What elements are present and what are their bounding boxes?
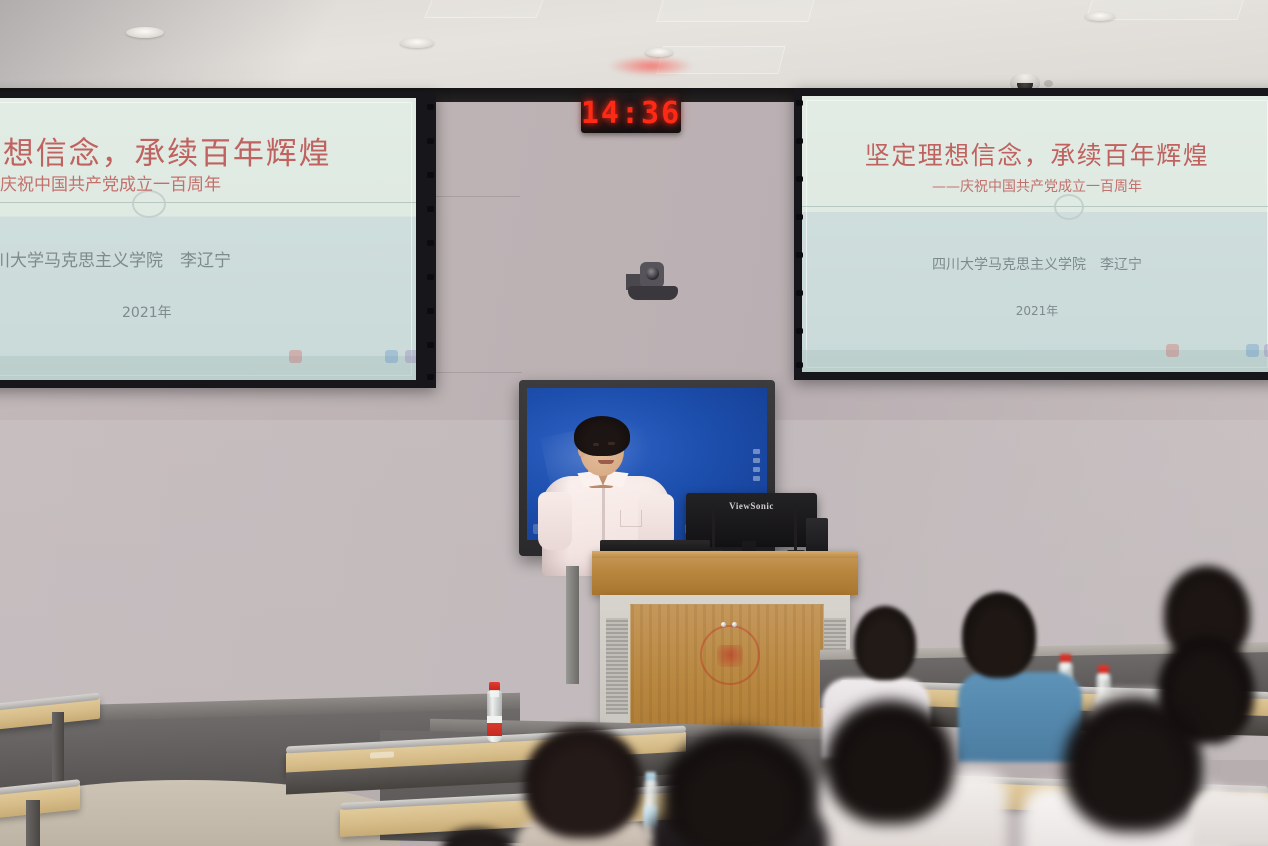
audience-head — [826, 700, 954, 824]
bottle-neck — [1099, 673, 1108, 680]
wall-digital-clock: 14:36 — [581, 93, 681, 133]
wall-seam — [430, 372, 522, 373]
ceiling-downlight — [400, 38, 434, 48]
desk-leg — [52, 712, 64, 784]
bottle-label — [487, 716, 502, 736]
slide-title: 坚定理想信念，承续百年辉煌 — [802, 136, 1268, 172]
bottle-neck — [1061, 662, 1070, 669]
desktop-icon-red — [1166, 344, 1179, 357]
ceiling-downlight — [126, 27, 164, 38]
ceiling-tile — [424, 0, 547, 18]
slide-subtitle: ——庆祝中国共产党成立一百周年 — [802, 176, 1268, 196]
panel-side-toolbar[interactable] — [753, 449, 761, 485]
university-emblem — [700, 625, 760, 685]
ceiling-downlight — [1085, 12, 1115, 21]
desk-plate — [370, 751, 394, 758]
desktop-icon-red — [289, 350, 302, 363]
desk-leg — [26, 800, 40, 846]
right-projection-screen: 坚定理想信念，承续百年辉煌 ——庆祝中国共产党成立一百周年 四川大学马克思主义学… — [794, 88, 1268, 380]
desktop-icon-purple — [405, 350, 416, 363]
lectern-support-post — [566, 566, 579, 684]
lectern-door-handle — [732, 622, 737, 627]
left-slide: 理想信念，承续百年辉煌 ——庆祝中国共产党成立一百周年 四川大学马克思主义学院 … — [0, 98, 416, 380]
audience-head — [854, 606, 916, 680]
ptz-video-camera — [620, 258, 682, 304]
slide-taskbar — [0, 356, 416, 380]
speaker-shirt-pocket — [620, 510, 642, 527]
slide-subtitle: ——庆祝中国共产党成立一百周年 — [0, 170, 416, 195]
lectern-vent-left — [606, 618, 628, 714]
wall-seam — [430, 196, 520, 197]
screen-tension-tabs — [427, 98, 434, 382]
ptz-base — [628, 286, 678, 300]
slide-organization: 四川大学马克思主义学院 李辽宁 — [0, 246, 416, 271]
desktop-icon-blue — [1246, 344, 1259, 357]
clock-ceiling-reflection — [608, 56, 694, 76]
audience-head — [1064, 696, 1204, 832]
speaker-eye — [593, 443, 599, 446]
bottle-neck — [646, 780, 655, 787]
monitor-brand-label: ViewSonic — [686, 501, 817, 511]
bottle-neck — [490, 690, 499, 697]
podium-monitor[interactable]: ViewSonic — [686, 493, 817, 547]
speaker-mouth — [598, 460, 614, 464]
speaker-eye — [608, 442, 615, 445]
left-projection-screen: 理想信念，承续百年辉煌 ——庆祝中国共产党成立一百周年 四川大学马克思主义学院 … — [0, 92, 436, 388]
ceiling-sensor-icon — [1044, 80, 1053, 87]
clock-time: 14:36 — [581, 96, 681, 131]
speaker-hair — [574, 416, 630, 456]
audience-body — [1192, 790, 1268, 846]
gooseneck-microphone — [794, 504, 797, 554]
slide-taskbar — [802, 350, 1268, 372]
audience-head — [662, 730, 814, 846]
water-bottle — [487, 690, 502, 742]
audience-head — [524, 726, 642, 838]
lectern-door-handle — [721, 622, 726, 627]
right-slide: 坚定理想信念，承续百年辉煌 ——庆祝中国共产党成立一百周年 四川大学马克思主义学… — [802, 96, 1268, 372]
ptz-lens-icon — [646, 267, 659, 280]
slide-organization: 四川大学马克思主义学院 李辽宁 — [802, 254, 1268, 274]
ceiling — [0, 0, 1268, 96]
ceiling-tile — [656, 0, 815, 22]
lecture-hall-photo: 理想信念，承续百年辉煌 ——庆祝中国共产党成立一百周年 四川大学马克思主义学院 … — [0, 0, 1268, 846]
slide-year: 2021年 — [122, 302, 416, 322]
speaker-sleeve-left — [538, 492, 572, 550]
slide-divider — [802, 206, 1268, 207]
slide-ring-accent — [1054, 194, 1084, 220]
desktop-icon-blue — [385, 350, 398, 363]
lectern-top-edge — [592, 551, 858, 558]
gooseneck-microphone — [712, 506, 715, 554]
slide-divider — [0, 202, 416, 203]
ceiling-shadow — [0, 0, 430, 100]
slide-year: 2021年 — [802, 302, 1268, 319]
audience-body — [958, 672, 1082, 762]
screen-tension-tabs — [796, 94, 803, 374]
audience-head — [962, 592, 1036, 678]
desktop-icon-purple — [1264, 344, 1268, 357]
slide-title: 理想信念，承续百年辉煌 — [0, 128, 416, 173]
